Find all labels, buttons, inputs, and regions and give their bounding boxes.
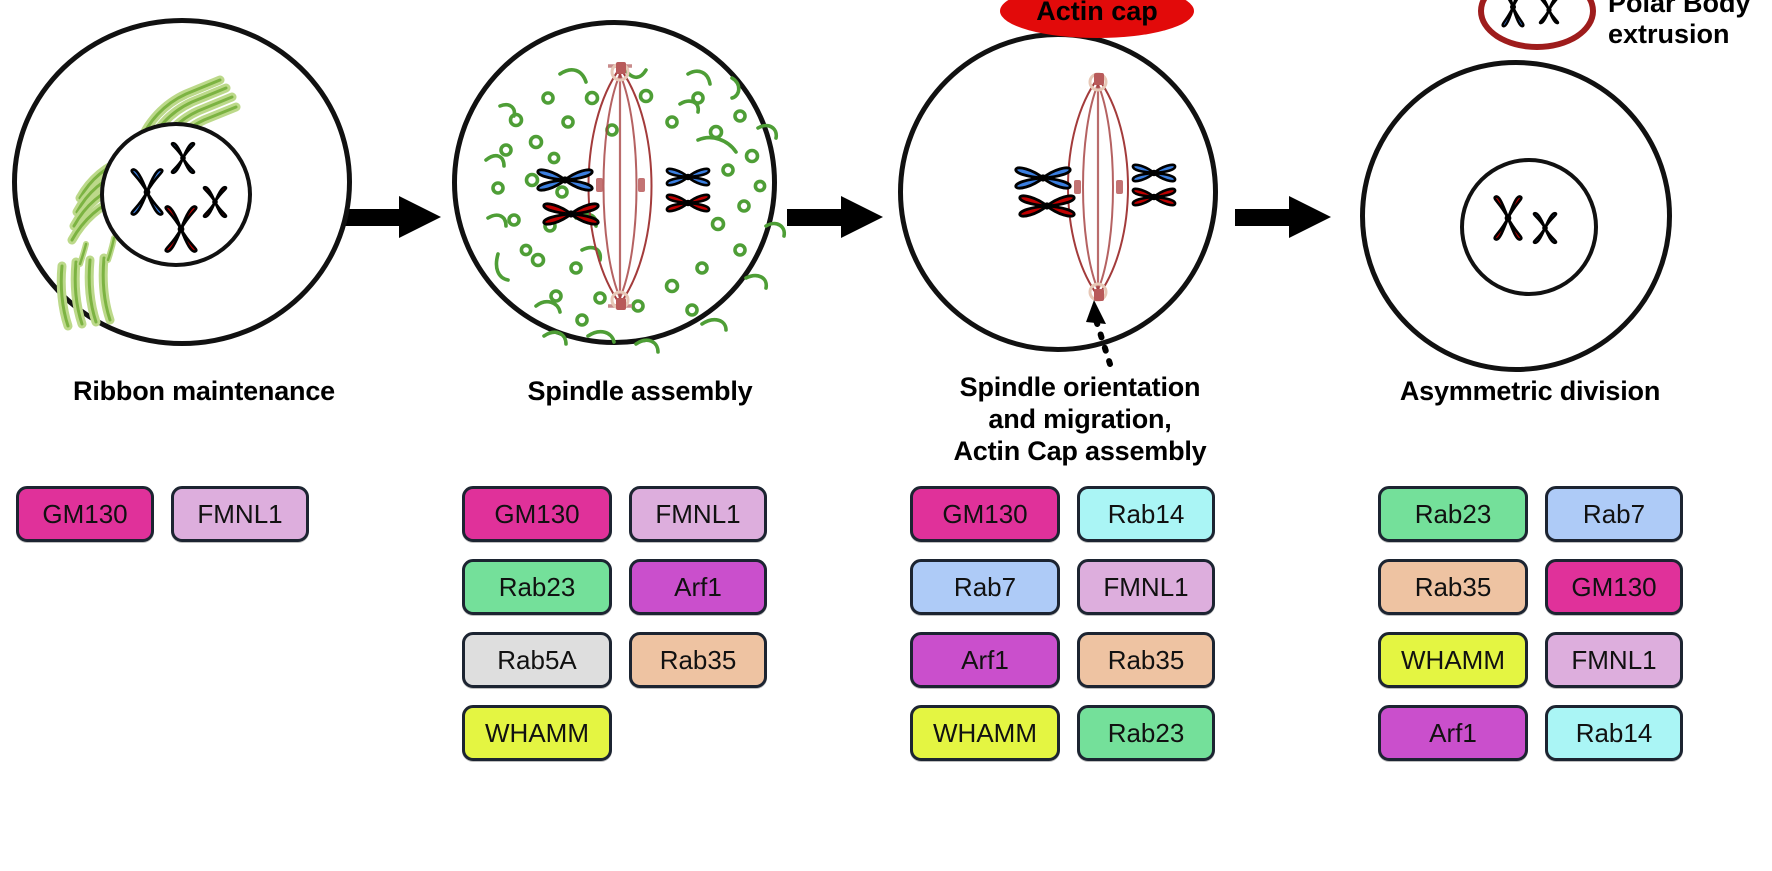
gene-label: Rab35 xyxy=(660,645,737,676)
gene-label: Arf1 xyxy=(1429,718,1477,749)
gene-box-rab23[interactable]: Rab23 xyxy=(1378,486,1528,542)
stage-title-line: Ribbon maintenance xyxy=(4,376,404,408)
cell-illustration-3: Actin cap xyxy=(880,10,1280,390)
gene-label: Rab14 xyxy=(1576,718,1653,749)
gene-box-rab23[interactable]: Rab23 xyxy=(1077,705,1215,761)
gene-box-rab35[interactable]: Rab35 xyxy=(629,632,767,688)
polar-body-label-line2: extrusion xyxy=(1608,19,1751,50)
cell-illustration-4: Polar Body extrusion xyxy=(1330,10,1730,390)
gene-label: Rab14 xyxy=(1108,499,1185,530)
gene-box-rab7[interactable]: Rab7 xyxy=(1545,486,1683,542)
gene-box-gm130[interactable]: GM130 xyxy=(16,486,154,542)
gene-label: GM130 xyxy=(942,499,1027,530)
gene-label: GM130 xyxy=(1571,572,1656,603)
chromosome-blue-small xyxy=(1530,212,1560,244)
polar-body-label-line1: Polar Body xyxy=(1608,0,1751,19)
gene-label: Rab23 xyxy=(1108,718,1185,749)
chromosome-red-large xyxy=(160,205,202,253)
gene-box-rab14[interactable]: Rab14 xyxy=(1077,486,1215,542)
gene-label: Rab5A xyxy=(497,645,577,676)
gene-box-fmnl1[interactable]: FMNL1 xyxy=(1545,632,1683,688)
gene-label: Rab35 xyxy=(1108,645,1185,676)
gene-label: FMNL1 xyxy=(655,499,740,530)
nucleus xyxy=(1460,158,1598,296)
gene-label: Rab23 xyxy=(1415,499,1492,530)
gene-box-arf1[interactable]: Arf1 xyxy=(629,559,767,615)
chromosome-blue-small xyxy=(168,142,198,174)
chromosome-group-blue-left xyxy=(532,162,598,198)
gene-box-arf1[interactable]: Arf1 xyxy=(910,632,1060,688)
arrow-head xyxy=(399,196,441,238)
gene-box-rab35[interactable]: Rab35 xyxy=(1378,559,1528,615)
gene-label: GM130 xyxy=(494,499,579,530)
stage-title-line: Spindle assembly xyxy=(440,376,840,408)
stage-title-4: Asymmetric division xyxy=(1330,376,1730,408)
gene-label: Arf1 xyxy=(961,645,1009,676)
gene-box-rab14[interactable]: Rab14 xyxy=(1545,705,1683,761)
stage-title-1: Ribbon maintenance xyxy=(4,376,404,408)
actin-cap-badge: Actin cap xyxy=(1000,0,1194,38)
gene-box-fmnl1[interactable]: FMNL1 xyxy=(629,486,767,542)
stage-title-line: Actin Cap assembly xyxy=(880,436,1280,468)
actin-cap-label: Actin cap xyxy=(1036,0,1158,27)
gene-label: Rab23 xyxy=(499,572,576,603)
chromosome-red-large xyxy=(1488,195,1528,241)
gene-label: Rab7 xyxy=(1583,499,1645,530)
chromosome-group-red-right xyxy=(662,188,714,218)
gene-box-whamm[interactable]: WHAMM xyxy=(1378,632,1528,688)
figure-canvas: Ribbon maintenance GM130 FMNL1 xyxy=(0,0,1772,871)
chromosome-group-red-left xyxy=(1014,188,1080,224)
stage-panel-asymmetric-division: Polar Body extrusion Asymmetric division… xyxy=(1330,0,1730,871)
cell-illustration-1 xyxy=(4,10,404,390)
gene-label: Arf1 xyxy=(674,572,722,603)
gene-label: WHAMM xyxy=(485,718,589,749)
gene-box-rab5a[interactable]: Rab5A xyxy=(462,632,612,688)
chromosome-group-red-right xyxy=(1128,182,1180,212)
gene-label: FMNL1 xyxy=(1103,572,1188,603)
gene-box-gm130[interactable]: GM130 xyxy=(910,486,1060,542)
arrow-head xyxy=(841,196,883,238)
stage-panel-spindle-orientation: Actin cap xyxy=(880,0,1280,871)
gene-box-rab35[interactable]: Rab35 xyxy=(1077,632,1215,688)
chromosome-group-red-left xyxy=(538,196,604,232)
gene-box-fmnl1[interactable]: FMNL1 xyxy=(171,486,309,542)
gene-label: WHAMM xyxy=(1401,645,1505,676)
gene-box-gm130[interactable]: GM130 xyxy=(462,486,612,542)
gene-box-whamm[interactable]: WHAMM xyxy=(910,705,1060,761)
stage-panel-ribbon-maintenance: Ribbon maintenance GM130 FMNL1 xyxy=(4,0,404,871)
gene-list-2: GM130 FMNL1 Rab23 Arf1 Rab5A Rab35 WHAMM xyxy=(462,486,767,761)
gene-label: Rab7 xyxy=(954,572,1016,603)
gene-list-1: GM130 FMNL1 xyxy=(16,486,309,542)
polar-body-chromosome-blue xyxy=(1498,0,1528,28)
gene-list-4: Rab23 Rab7 Rab35 GM130 WHAMM FMNL1 Arf1 … xyxy=(1378,486,1683,761)
stage-title-line: Spindle orientation xyxy=(880,372,1280,404)
polar-body-chromosome-red xyxy=(1536,0,1562,24)
polar-body-label: Polar Body extrusion xyxy=(1608,0,1751,51)
gene-box-gm130[interactable]: GM130 xyxy=(1545,559,1683,615)
stage-title-line: Asymmetric division xyxy=(1330,376,1730,408)
stage-title-line: and migration, xyxy=(880,404,1280,436)
cell-illustration-2 xyxy=(440,10,840,390)
gene-label: Rab35 xyxy=(1415,572,1492,603)
gene-label: FMNL1 xyxy=(1571,645,1656,676)
gene-box-rab23[interactable]: Rab23 xyxy=(462,559,612,615)
gene-label: WHAMM xyxy=(933,718,1037,749)
gene-box-arf1[interactable]: Arf1 xyxy=(1378,705,1528,761)
gene-box-rab7[interactable]: Rab7 xyxy=(910,559,1060,615)
stage-title-2: Spindle assembly xyxy=(440,376,840,408)
chromosome-red-small xyxy=(200,186,230,218)
gene-box-fmnl1[interactable]: FMNL1 xyxy=(1077,559,1215,615)
arrow-spindle-migration xyxy=(1076,294,1136,366)
gene-label: GM130 xyxy=(42,499,127,530)
stage-title-3: Spindle orientation and migration, Actin… xyxy=(880,372,1280,468)
gene-box-whamm[interactable]: WHAMM xyxy=(462,705,612,761)
arrow-head xyxy=(1289,196,1331,238)
gene-label: FMNL1 xyxy=(197,499,282,530)
stage-panel-spindle-assembly: Spindle assembly GM130 FMNL1 Rab23 Arf1 … xyxy=(440,0,840,871)
gene-list-3: GM130 Rab14 Rab7 FMNL1 Arf1 Rab35 WHAMM … xyxy=(910,486,1215,761)
